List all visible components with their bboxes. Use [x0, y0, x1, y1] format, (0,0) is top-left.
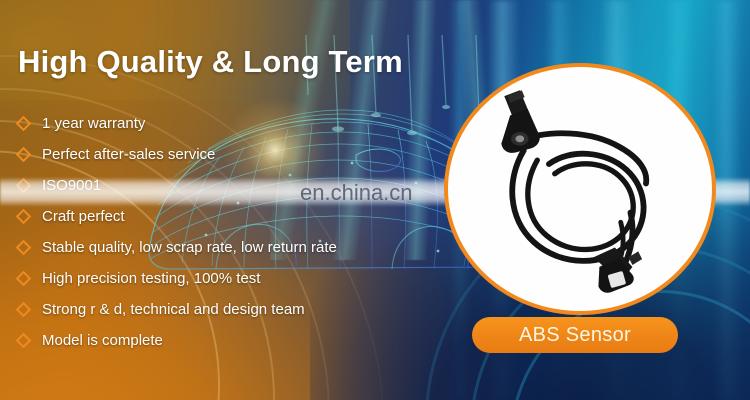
feature-label: Strong r & d, technical and design team — [42, 301, 305, 318]
list-item: Strong r & d, technical and design team — [18, 294, 337, 325]
product-banner: High Quality & Long Term 1 year warranty… — [0, 0, 750, 400]
diamond-bullet-icon — [16, 302, 32, 318]
diamond-bullet-icon — [16, 147, 32, 163]
feature-list: 1 year warranty Perfect after-sales serv… — [18, 108, 337, 356]
sensor-connector — [594, 248, 643, 293]
list-item: Stable quality, low scrap rate, low retu… — [18, 232, 337, 263]
diamond-bullet-icon — [16, 209, 32, 225]
list-item: High precision testing, 100% test — [18, 263, 337, 294]
list-item: Perfect after-sales service — [18, 139, 337, 170]
list-item: Model is complete — [18, 325, 337, 356]
page-title: High Quality & Long Term — [18, 44, 403, 80]
product-image-circle — [444, 63, 716, 315]
list-item: 1 year warranty — [18, 108, 337, 139]
feature-label: Craft perfect — [42, 208, 125, 225]
feature-label: Perfect after-sales service — [42, 146, 215, 163]
watermark-text: en.china.cn — [300, 180, 413, 206]
sensor-head — [501, 90, 539, 153]
diamond-bullet-icon — [16, 116, 32, 132]
feature-label: High precision testing, 100% test — [42, 270, 260, 287]
diamond-bullet-icon — [16, 271, 32, 287]
feature-label: 1 year warranty — [42, 115, 145, 132]
abs-sensor-product-image — [448, 67, 712, 312]
feature-label: Stable quality, low scrap rate, low retu… — [42, 239, 337, 256]
diamond-bullet-icon — [16, 333, 32, 349]
product-label-text: ABS Sensor — [519, 324, 631, 347]
product-label-pill: ABS Sensor — [472, 317, 678, 353]
diamond-bullet-icon — [16, 240, 32, 256]
feature-label: Model is complete — [42, 332, 163, 349]
